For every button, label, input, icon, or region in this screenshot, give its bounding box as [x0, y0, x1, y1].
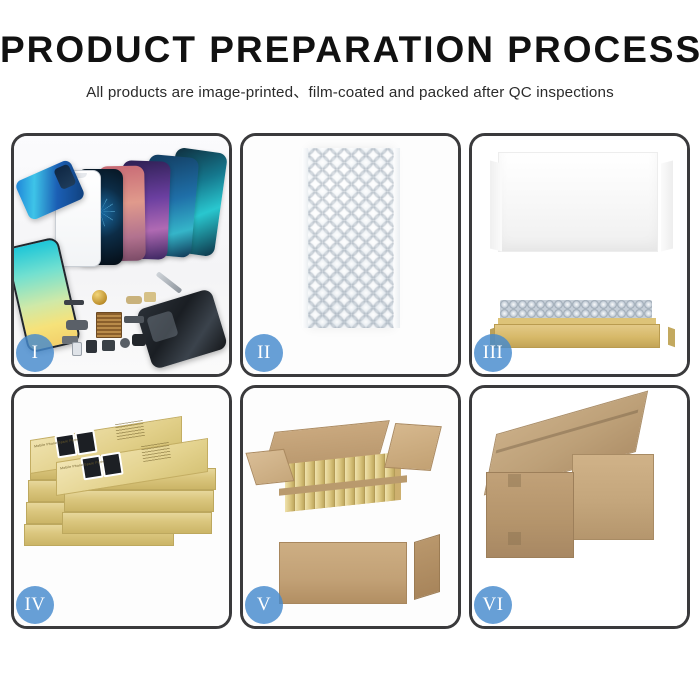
carton-tape-mark-top — [508, 474, 521, 487]
sim-tray-part-icon — [72, 342, 82, 356]
stacked-boxes-icon: Mobile Phone Spare Parts Mobile Phone Sp… — [20, 406, 220, 576]
bubble-wrap-edge-left — [302, 148, 309, 328]
box-base-right-tab — [668, 327, 675, 348]
bubble-wrap-icon — [308, 148, 394, 328]
antenna-part-icon — [124, 316, 144, 323]
sealed-carton-right-face — [572, 454, 654, 540]
step-panel-1[interactable]: I — [11, 133, 232, 377]
carton-side-panel — [414, 534, 440, 600]
spare-parts-cluster — [62, 290, 170, 356]
step-badge-3: III — [474, 334, 512, 372]
box-lid-right-flap — [661, 161, 673, 252]
page-subtitle: All products are image-printed、film-coat… — [0, 71, 700, 102]
step-badge-1: I — [16, 334, 54, 372]
speaker-part-icon — [92, 290, 107, 305]
battery-connector-part-icon — [64, 300, 84, 305]
step-panel-5[interactable]: V — [240, 385, 461, 629]
step-panel-3[interactable]: III — [469, 133, 690, 377]
product-preparation-infographic: PRODUCT PREPARATION PROCESS All products… — [0, 0, 700, 700]
flex-cable-part-icon — [66, 320, 88, 330]
gold-bracket-part-icon — [144, 292, 156, 302]
module-part-2-icon — [102, 340, 115, 351]
chip-part-icon — [96, 312, 122, 338]
box-label-screen-image — [100, 452, 123, 478]
step-panel-6[interactable]: VI — [469, 385, 690, 629]
box-lid-left-flap — [490, 161, 502, 252]
open-carton-icon — [279, 542, 407, 604]
step-badge-6: VI — [474, 586, 512, 624]
bubble-wrap-edge-right — [393, 148, 400, 328]
step-panel-4[interactable]: Mobile Phone Spare Parts Mobile Phone Sp… — [11, 385, 232, 629]
step-badge-2: II — [245, 334, 283, 372]
stacked-box-slab — [64, 490, 214, 512]
step-panel-2[interactable]: II — [240, 133, 461, 377]
camera-part-icon — [132, 334, 146, 346]
page-title: PRODUCT PREPARATION PROCESS — [0, 0, 700, 71]
sealed-carton-icon — [486, 472, 574, 558]
step-badge-5: V — [245, 586, 283, 624]
kraft-box-base-icon — [494, 324, 660, 348]
step-badge-4: IV — [16, 586, 54, 624]
stacked-box-slab — [62, 512, 212, 534]
module-part-icon — [86, 340, 97, 353]
gold-connector-part-icon — [126, 296, 142, 304]
button-part-icon — [120, 338, 130, 348]
header: PRODUCT PREPARATION PROCESS All products… — [0, 0, 700, 102]
box-lid-icon — [498, 152, 658, 252]
process-step-grid: I II — [11, 133, 690, 629]
carton-tape-mark-bottom — [508, 532, 521, 545]
box-label-screen-image — [74, 430, 97, 456]
